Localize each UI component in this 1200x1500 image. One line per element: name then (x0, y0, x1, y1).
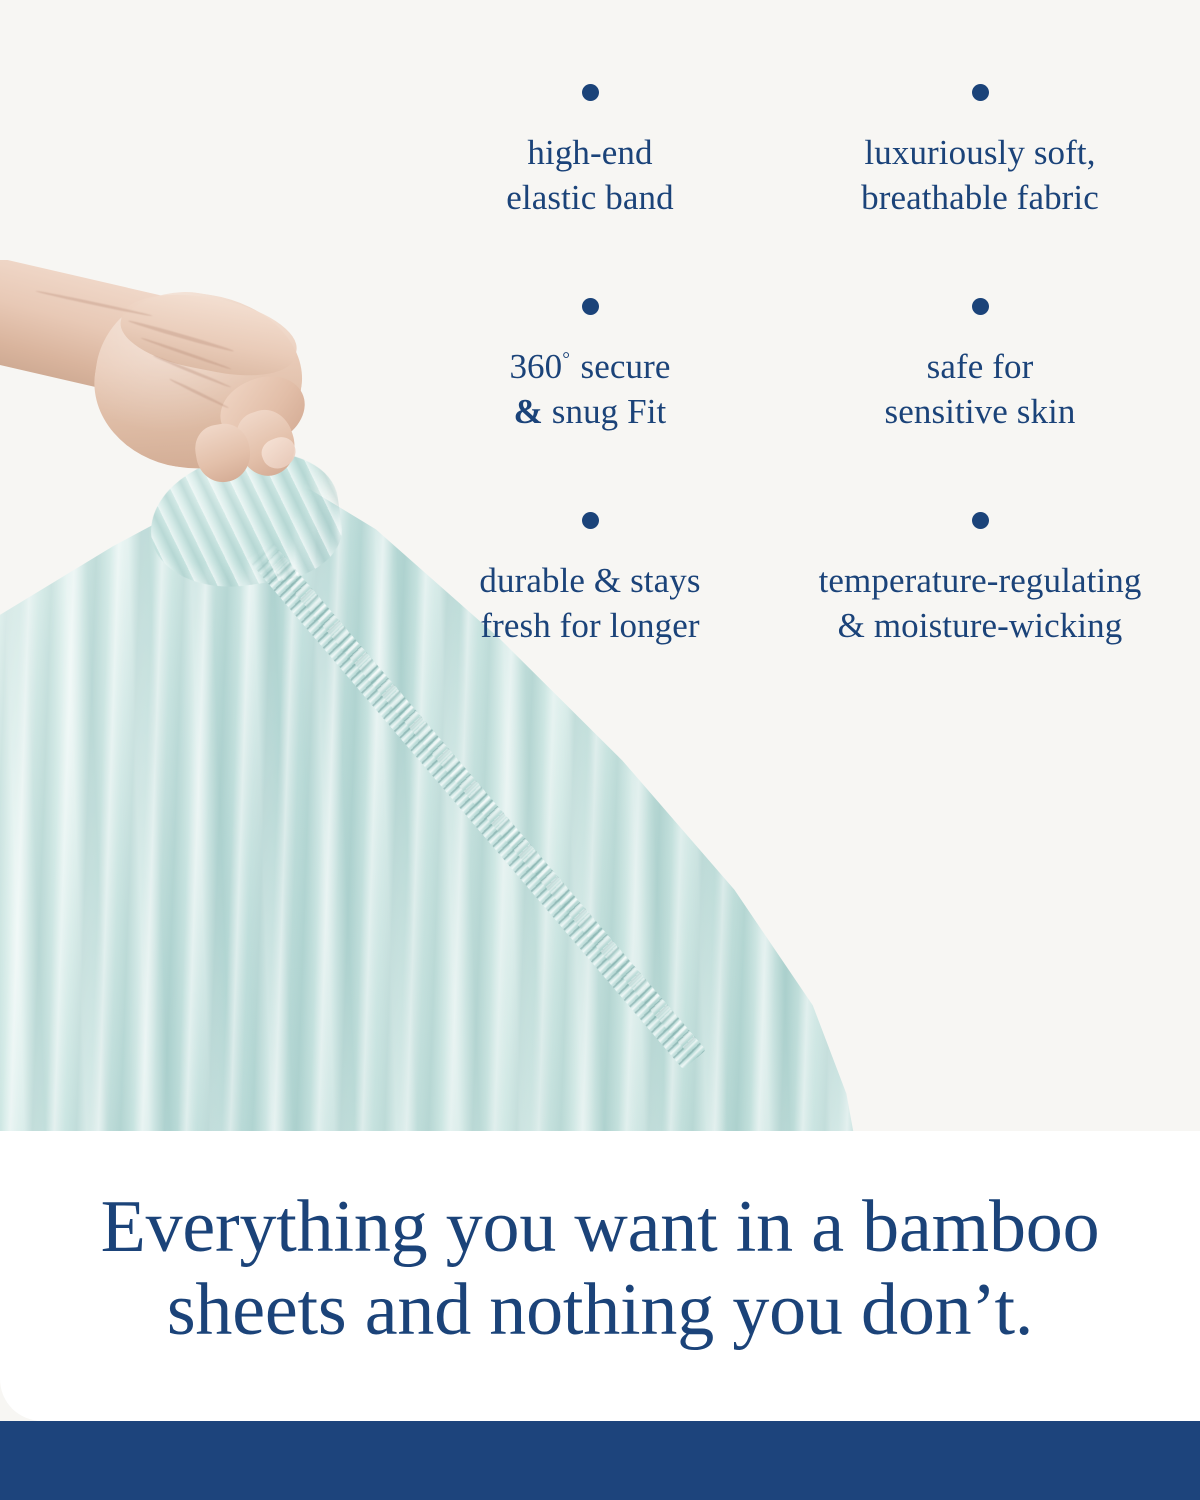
marketing-image-stage: high-endelastic band luxuriously soft,br… (0, 0, 1200, 1500)
bullet-dot-icon (972, 512, 989, 529)
feature-high-end-elastic-band: high-endelastic band (400, 84, 780, 298)
bullet-dot-icon (582, 84, 599, 101)
feature-luxuriously-soft-breathable-fabric: luxuriously soft,breathable fabric (790, 84, 1170, 298)
bottom-navy-bar (0, 1421, 1200, 1500)
feature-label: 360°secure& snug Fit (400, 345, 780, 435)
feature-label: durable & staysfresh for longer (400, 559, 780, 649)
feature-durable-stays-fresh-for-longer: durable & staysfresh for longer (400, 512, 780, 726)
ampersand: & (514, 392, 543, 431)
bullet-dot-icon (582, 512, 599, 529)
feature-label: high-endelastic band (400, 131, 780, 221)
headline-text: Everything you want in a bamboo sheets a… (0, 1186, 1200, 1352)
feature-list: high-endelastic band luxuriously soft,br… (400, 84, 1170, 726)
feature-temperature-regulating-moisture-wicking: temperature-regulating& moisture-wicking (790, 512, 1170, 726)
bullet-dot-icon (582, 298, 599, 315)
feature-label: safe forsensitive skin (790, 345, 1170, 435)
feature-360-secure-snug-fit: 360°secure& snug Fit (400, 298, 780, 512)
bullet-dot-icon (972, 84, 989, 101)
degree-symbol: ° (562, 349, 580, 370)
feature-label: temperature-regulating& moisture-wicking (790, 559, 1170, 649)
feature-label: luxuriously soft,breathable fabric (790, 131, 1170, 221)
feature-safe-for-sensitive-skin: safe forsensitive skin (790, 298, 1170, 512)
bullet-dot-icon (972, 298, 989, 315)
